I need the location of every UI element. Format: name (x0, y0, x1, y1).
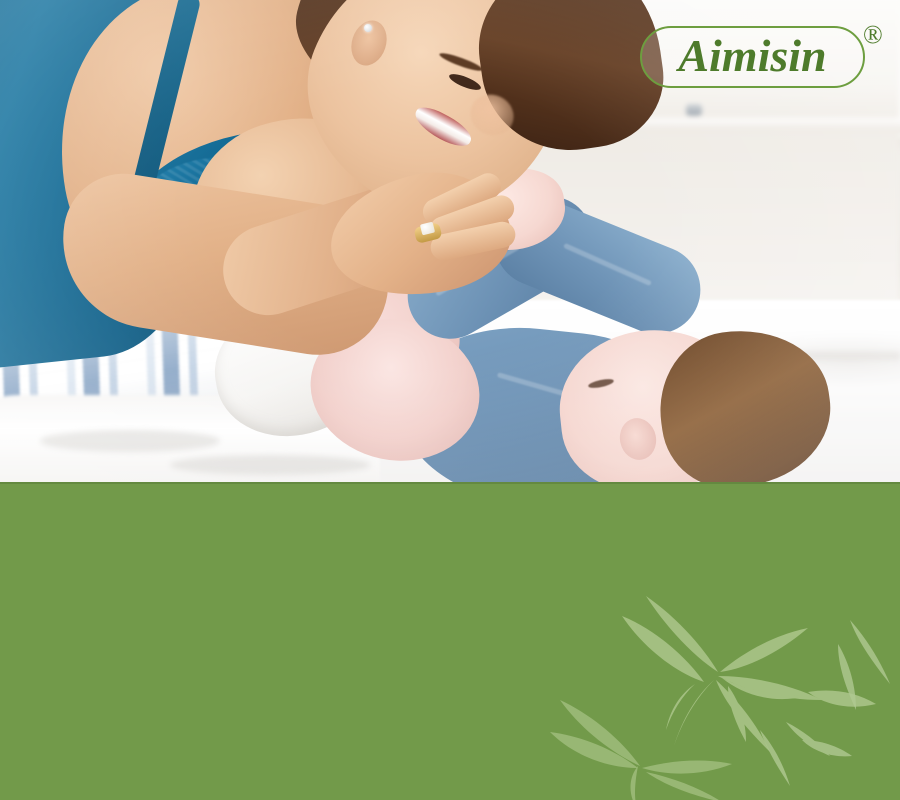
banner-top-divider (0, 482, 900, 484)
blanket-wrinkle (170, 455, 370, 475)
product-banner-page: Aimisin ® (0, 0, 900, 800)
window-knob (686, 104, 702, 116)
logo-wordmark: Aimisin (640, 26, 865, 88)
brand-logo[interactable]: Aimisin ® (640, 26, 865, 88)
bamboo-leaves-watermark (550, 580, 900, 800)
mother-earring (364, 24, 372, 32)
registered-trademark-icon: ® (863, 22, 883, 48)
blanket-wrinkle (40, 430, 220, 452)
feature-banner: Biodegradable and Environmental Friendly… (0, 482, 900, 800)
